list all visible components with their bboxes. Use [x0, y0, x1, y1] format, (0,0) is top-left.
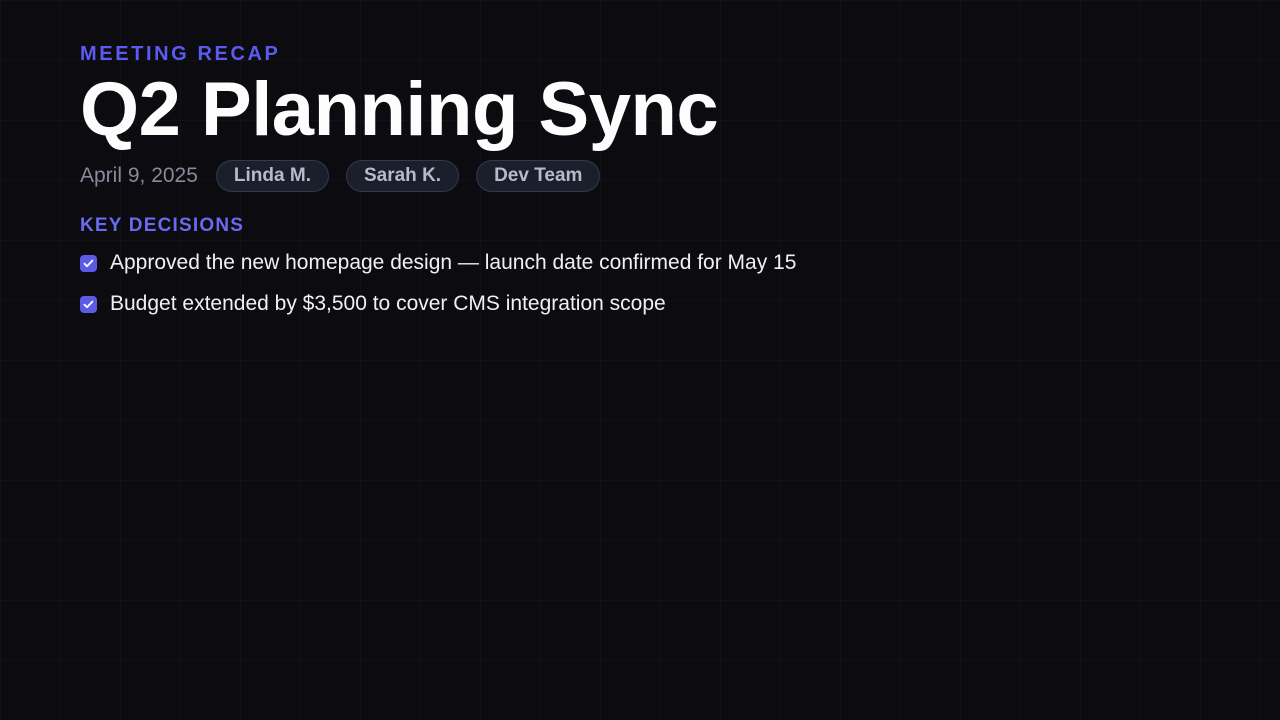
key-decisions-heading: KEY DECISIONS [80, 216, 1200, 235]
recap-content: MEETING RECAP Q2 Planning Sync April 9, … [80, 44, 1200, 325]
participant-chip[interactable]: Sarah K. [346, 160, 459, 192]
checkbox-checked-icon[interactable] [80, 255, 97, 272]
participant-chip[interactable]: Linda M. [216, 160, 329, 192]
participant-chip[interactable]: Dev Team [476, 160, 600, 192]
meeting-date: April 9, 2025 [80, 165, 198, 186]
meeting-meta-row: April 9, 2025 Linda M. Sarah K. Dev Team [80, 160, 1200, 192]
decision-text: Approved the new homepage design — launc… [110, 250, 796, 276]
page-title: Q2 Planning Sync [80, 70, 1200, 150]
eyebrow-label: MEETING RECAP [80, 44, 1200, 64]
meeting-recap-canvas: MEETING RECAP Q2 Planning Sync April 9, … [0, 0, 1280, 720]
list-item[interactable]: Approved the new homepage design — launc… [80, 243, 1200, 284]
list-item[interactable]: Budget extended by $3,500 to cover CMS i… [80, 284, 1200, 325]
key-decisions-list: Approved the new homepage design — launc… [80, 243, 1200, 325]
checkbox-checked-icon[interactable] [80, 296, 97, 313]
decision-text: Budget extended by $3,500 to cover CMS i… [110, 291, 666, 317]
